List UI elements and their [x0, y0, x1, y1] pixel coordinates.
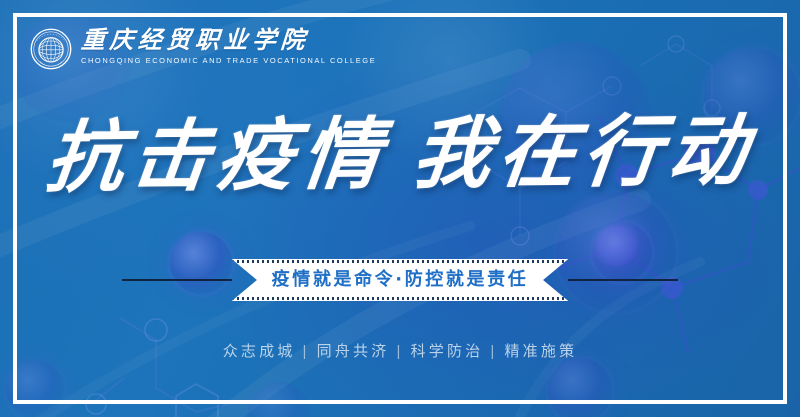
- slogan-separator: |: [296, 342, 317, 362]
- epidemic-prevention-banner: 重庆经贸职业学院 CHONGQING ECONOMIC AND TRADE VO…: [0, 0, 800, 417]
- virus-particle-icon: [548, 358, 612, 417]
- college-name-cn: 重庆经贸职业学院: [80, 27, 377, 53]
- slogan-list: 众志成城|同舟共济|科学防治|精准施策: [0, 342, 800, 362]
- ribbon-dotted-edge-top: [232, 260, 569, 263]
- slogan-item: 众志成城: [223, 343, 296, 360]
- ribbon-body: 疫情就是命令·防控就是责任: [232, 259, 569, 301]
- college-globe-emblem-icon: [30, 28, 72, 70]
- ribbon-rule-left: [122, 279, 232, 281]
- ribbon-rule-right: [568, 279, 678, 281]
- ribbon-text: 疫情就是命令·防控就是责任: [272, 270, 529, 290]
- slogan-item: 同舟共济: [317, 343, 390, 360]
- slogan-ribbon: 疫情就是命令·防控就是责任: [0, 259, 800, 301]
- ribbon-wrap: 疫情就是命令·防控就是责任: [232, 259, 569, 301]
- slogan-separator: |: [389, 342, 410, 362]
- slogan-separator: |: [483, 342, 504, 362]
- slogan-item: 科学防治: [411, 343, 484, 360]
- ribbon-dotted-edge-bottom: [232, 297, 569, 300]
- virus-particle-icon: [248, 382, 310, 417]
- college-name-en: CHONGQING ECONOMIC AND TRADE VOCATIONAL …: [81, 55, 376, 66]
- headline-part-2: 我在行动: [408, 105, 759, 200]
- college-name-block: 重庆经贸职业学院 CHONGQING ECONOMIC AND TRADE VO…: [81, 27, 376, 66]
- college-logo: 重庆经贸职业学院 CHONGQING ECONOMIC AND TRADE VO…: [30, 27, 376, 70]
- page-title: 抗击疫情我在行动: [0, 108, 800, 202]
- virus-particle-icon: [6, 360, 64, 417]
- slogan-item: 精准施策: [504, 343, 577, 360]
- headline-part-1: 抗击疫情: [41, 109, 392, 204]
